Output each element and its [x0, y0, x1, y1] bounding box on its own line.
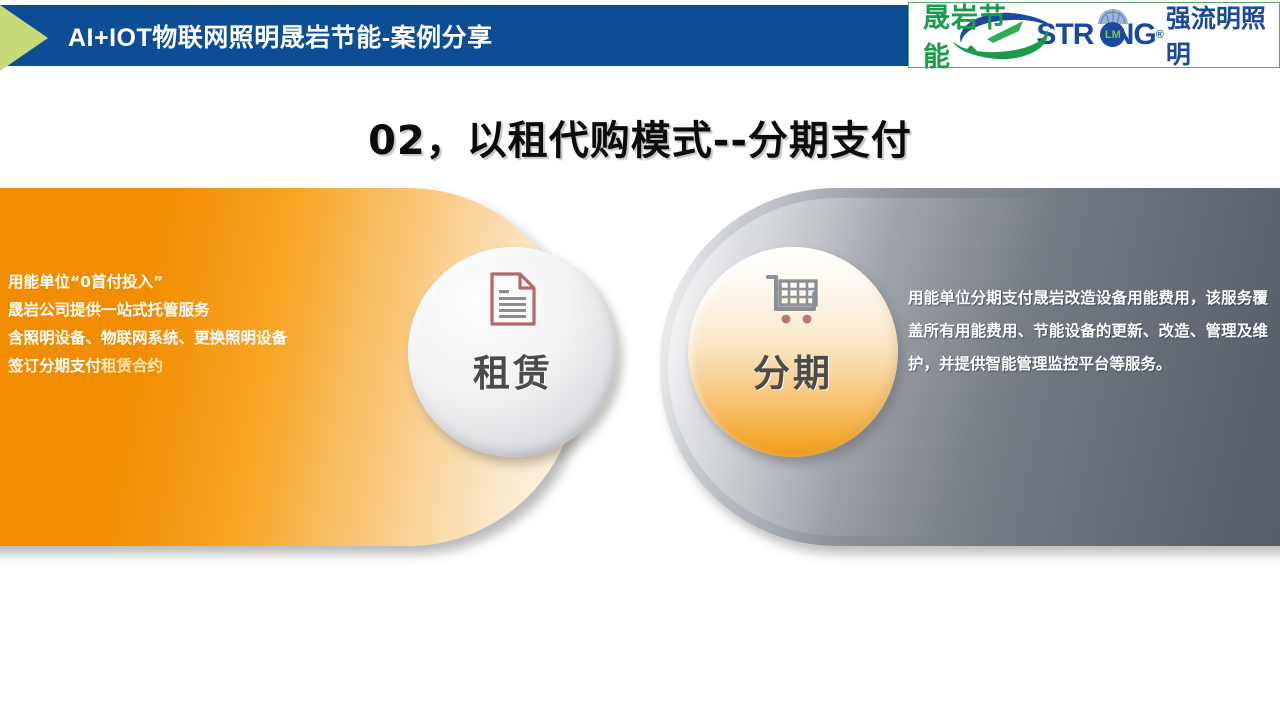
shopping-cart-icon — [764, 271, 822, 327]
header-arrow-icon — [0, 5, 48, 71]
lease-circle-label: 租赁 — [473, 343, 553, 397]
left-text-line-2: 晟岩公司提供一站式托管服务 — [8, 296, 338, 324]
right-panel-text: 用能单位分期支付晟岩改造设备用能费用，该服务覆盖所有用能费用、节能设备的更新、改… — [908, 282, 1268, 381]
left-text-line-3: 含照明设备、物联网系统、更换照明设备 — [8, 324, 338, 352]
left-text-contract-prefix: 签订分期支付 — [8, 357, 101, 375]
logo-strong-prefix: STR — [1036, 18, 1093, 51]
left-panel-text: 用能单位“0首付投入” 晟岩公司提供一站式托管服务 含照明设备、物联网系统、更换… — [8, 268, 338, 380]
left-text-contract-highlight: 租赁合约 — [101, 357, 163, 375]
company-logo: 晟岩节能 STR NG LM ® 强流明照明 — [908, 2, 1280, 68]
slide-title: 02，以租代购模式--分期支付 — [0, 108, 1280, 166]
document-icon — [489, 271, 537, 327]
left-text-line-4: 签订分期支付租赁合约 — [8, 352, 338, 380]
logo-registered-mark: ® — [1156, 29, 1164, 41]
logo-brand-cn: 晟岩节能 — [923, 0, 1024, 74]
lease-circle[interactable]: 租赁 — [408, 247, 618, 457]
logo-brand-en: STR NG LM — [1036, 18, 1155, 52]
installment-circle[interactable]: 分期 — [688, 247, 898, 457]
logo-brand-cn-right: 强流明照明 — [1166, 0, 1279, 71]
left-text-line-1: 用能单位“0首付投入” — [8, 268, 338, 296]
header-title: AI+IOT物联网照明晟岩节能-案例分享 — [68, 5, 493, 66]
installment-circle-label: 分期 — [753, 343, 833, 397]
